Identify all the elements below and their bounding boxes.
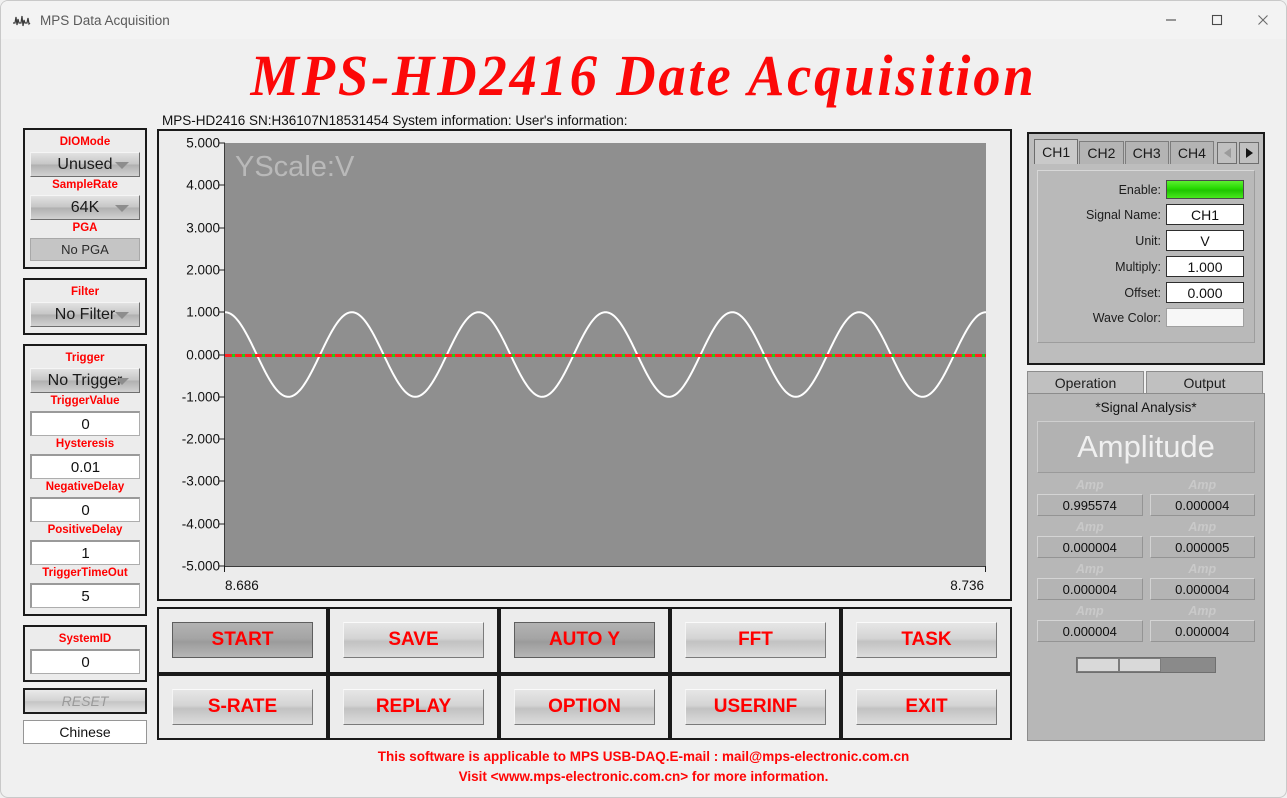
- chevron-down-icon: [115, 312, 129, 319]
- analysis-section-title: *Signal Analysis*: [1037, 400, 1255, 415]
- replay-button[interactable]: REPLAY: [343, 689, 483, 725]
- tab-operation[interactable]: Operation: [1027, 371, 1144, 393]
- diomode-select[interactable]: Unused: [30, 152, 140, 177]
- y-tick-label: 5.000: [186, 136, 220, 151]
- window-controls: [1148, 1, 1286, 39]
- multiply-input[interactable]: 1.000: [1166, 256, 1244, 277]
- scroll-thumb-2[interactable]: [1119, 658, 1161, 672]
- measurement-value: 0.000005: [1150, 536, 1256, 558]
- multiply-label: Multiply:: [1115, 260, 1161, 274]
- button-cell: EXIT: [841, 674, 1012, 741]
- scroll-thumb[interactable]: [1077, 658, 1119, 672]
- channel-settings-panel: CH1 CH2 CH3 CH4 Enable: Signal Name: CH1…: [1027, 132, 1265, 365]
- offset-label: Offset:: [1124, 286, 1161, 300]
- unit-label: Unit:: [1135, 234, 1161, 248]
- auto-y-button[interactable]: AUTO Y: [514, 622, 654, 658]
- window-title: MPS Data Acquisition: [40, 13, 170, 28]
- page-title: MPS-HD2416 Date Acquisition: [40, 45, 1248, 107]
- userinf-button[interactable]: USERINF: [685, 689, 825, 725]
- filter-group: Filter No Filter: [23, 278, 147, 335]
- footer-line-1: This software is applicable to MPS USB-D…: [1, 747, 1286, 767]
- triggertimeout-label: TriggerTimeOut: [30, 566, 140, 581]
- trigger-group: Trigger No Trigger TriggerValue 0 Hyster…: [23, 344, 147, 616]
- wave-color-row: Wave Color:: [1044, 308, 1244, 327]
- button-cell: USERINF: [670, 674, 841, 741]
- language-toggle-button[interactable]: Chinese: [23, 720, 147, 744]
- signal-name-label: Signal Name:: [1086, 208, 1161, 222]
- hysteresis-input[interactable]: 0.01: [30, 454, 140, 479]
- waveform-icon: [13, 12, 31, 28]
- pga-value: No PGA: [30, 238, 140, 261]
- analysis-panel: Operation Output *Signal Analysis* Ampli…: [1027, 371, 1265, 741]
- measurement-grid: AmpAmp0.9955740.000004AmpAmp0.0000040.00…: [1037, 477, 1255, 645]
- zero-reference-line: [225, 354, 986, 357]
- diomode-value: Unused: [57, 156, 112, 174]
- filter-value: No Filter: [55, 306, 115, 324]
- tab-ch3[interactable]: CH3: [1125, 141, 1169, 164]
- y-tick-label: -4.000: [182, 516, 220, 531]
- measurement-value: 0.000004: [1150, 620, 1256, 642]
- wave-color-label: Wave Color:: [1093, 311, 1161, 325]
- analysis-scrollbar[interactable]: [1037, 657, 1255, 673]
- chevron-down-icon: [115, 378, 129, 385]
- y-tick-label: 1.000: [186, 305, 220, 320]
- x-tick-start: [224, 566, 225, 572]
- measurement-label: Amp: [1150, 603, 1256, 620]
- offset-row: Offset: 0.000: [1044, 282, 1244, 303]
- acquisition-group: DIOMode Unused SampleRate 64K PGA No PGA: [23, 128, 147, 269]
- filter-label: Filter: [30, 285, 140, 300]
- minimize-button[interactable]: [1148, 1, 1194, 39]
- app-window: MPS Data Acquisition MPS-HD2416 Date Acq…: [0, 0, 1287, 798]
- channel-tab-bar: CH1 CH2 CH3 CH4: [1034, 139, 1259, 164]
- button-cell: REPLAY: [328, 674, 499, 741]
- waveform-chart[interactable]: YScale:V 5.0004.0003.0002.0001.0000.000-…: [157, 129, 1012, 601]
- measurement-label: Amp: [1037, 603, 1143, 620]
- fft-button[interactable]: FFT: [685, 622, 825, 658]
- button-cell: SAVE: [328, 607, 499, 674]
- y-tick-label: 4.000: [186, 178, 220, 193]
- save-button[interactable]: SAVE: [343, 622, 483, 658]
- y-tick-label: -2.000: [182, 432, 220, 447]
- diomode-label: DIOMode: [30, 135, 140, 150]
- measurement-value: 0.000004: [1037, 578, 1143, 600]
- analysis-mode-display[interactable]: Amplitude: [1037, 421, 1255, 473]
- y-tick-label: -3.000: [182, 474, 220, 489]
- offset-input[interactable]: 0.000: [1166, 282, 1244, 303]
- reset-button[interactable]: RESET: [23, 688, 147, 714]
- filter-select[interactable]: No Filter: [30, 302, 140, 327]
- y-tick-label: 0.000: [186, 347, 220, 362]
- measurement-label: Amp: [1037, 561, 1143, 578]
- measurement-label: Amp: [1150, 561, 1256, 578]
- enable-label: Enable:: [1119, 183, 1161, 197]
- settings-sidebar: DIOMode Unused SampleRate 64K PGA No PGA…: [23, 128, 147, 744]
- button-cell: TASK: [841, 607, 1012, 674]
- plot-area[interactable]: YScale:V 5.0004.0003.0002.0001.0000.000-…: [224, 143, 986, 567]
- measurement-value: 0.000004: [1150, 494, 1256, 516]
- title-bar: MPS Data Acquisition: [1, 1, 1286, 39]
- unit-input[interactable]: V: [1166, 230, 1244, 251]
- negativedelay-label: NegativeDelay: [30, 480, 140, 495]
- chevron-down-icon: [115, 162, 129, 169]
- samplerate-select[interactable]: 64K: [30, 195, 140, 220]
- systemid-input[interactable]: 0: [30, 649, 140, 674]
- y-tick-label: -5.000: [182, 559, 220, 574]
- tab-output[interactable]: Output: [1146, 371, 1263, 393]
- analysis-body: *Signal Analysis* Amplitude AmpAmp0.9955…: [1027, 393, 1265, 741]
- y-tick-label: 2.000: [186, 262, 220, 277]
- systemid-label: SystemID: [30, 632, 140, 647]
- button-cell: S-RATE: [157, 674, 328, 741]
- trigger-value: No Trigger: [48, 372, 123, 390]
- trigger-select[interactable]: No Trigger: [30, 368, 140, 393]
- enable-toggle[interactable]: [1166, 180, 1244, 199]
- measurement-value: 0.995574: [1037, 494, 1143, 516]
- signal-name-input[interactable]: CH1: [1166, 204, 1244, 225]
- option-button[interactable]: OPTION: [514, 689, 654, 725]
- footer: This software is applicable to MPS USB-D…: [1, 747, 1286, 787]
- measurement-label: Amp: [1150, 477, 1256, 494]
- triggervalue-label: TriggerValue: [30, 394, 140, 409]
- y-tick-label: 3.000: [186, 220, 220, 235]
- start-button[interactable]: START: [172, 622, 312, 658]
- measurement-value: 0.000004: [1150, 578, 1256, 600]
- pga-label: PGA: [30, 221, 140, 236]
- task-button[interactable]: TASK: [856, 622, 996, 658]
- multiply-row: Multiply: 1.000: [1044, 256, 1244, 277]
- triggervalue-input[interactable]: 0: [30, 411, 140, 436]
- wave-color-swatch[interactable]: [1166, 308, 1244, 327]
- chevron-right-icon: [1246, 148, 1253, 158]
- trigger-label: Trigger: [30, 351, 140, 366]
- signal-name-row: Signal Name: CH1: [1044, 204, 1244, 225]
- x-tick-end: [985, 566, 986, 572]
- samplerate-label: SampleRate: [30, 178, 140, 193]
- samplerate-value: 64K: [71, 199, 99, 217]
- prev-channel-button[interactable]: [1217, 142, 1237, 164]
- positivedelay-input[interactable]: 1: [30, 540, 140, 565]
- enable-row: Enable:: [1044, 180, 1244, 199]
- button-cell: AUTO Y: [499, 607, 670, 674]
- unit-row: Unit: V: [1044, 230, 1244, 251]
- measurement-value: 0.000004: [1037, 620, 1143, 642]
- s-rate-button[interactable]: S-RATE: [172, 689, 312, 725]
- button-cell: OPTION: [499, 674, 670, 741]
- close-button[interactable]: [1240, 1, 1286, 39]
- measurement-label: Amp: [1037, 477, 1143, 494]
- next-channel-button[interactable]: [1239, 142, 1259, 164]
- channel-fields: Enable: Signal Name: CH1 Unit: V Multipl…: [1037, 170, 1255, 343]
- button-cell: START: [157, 607, 328, 674]
- x-axis-start-label: 8.686: [225, 578, 259, 593]
- triggertimeout-input[interactable]: 5: [30, 583, 140, 608]
- negativedelay-input[interactable]: 0: [30, 497, 140, 522]
- chevron-left-icon: [1224, 148, 1231, 158]
- action-button-grid: START SAVE AUTO Y FFT TASK S-RATE REPLAY…: [157, 607, 1012, 740]
- tab-ch1[interactable]: CH1: [1034, 139, 1078, 164]
- analysis-tab-bar: Operation Output: [1027, 371, 1265, 393]
- button-cell: FFT: [670, 607, 841, 674]
- system-info-text: MPS-HD2416 SN:H36107N18531454 System inf…: [162, 113, 628, 128]
- footer-line-2: Visit <www.mps-electronic.com.cn> for mo…: [1, 767, 1286, 787]
- tab-ch2[interactable]: CH2: [1079, 141, 1123, 164]
- tab-ch4[interactable]: CH4: [1170, 141, 1214, 164]
- maximize-button[interactable]: [1194, 1, 1240, 39]
- measurement-value: 0.000004: [1037, 536, 1143, 558]
- hysteresis-label: Hysteresis: [30, 437, 140, 452]
- chevron-down-icon: [115, 205, 129, 212]
- measurement-label: Amp: [1037, 519, 1143, 536]
- x-axis-end-label: 8.736: [950, 578, 984, 593]
- systemid-group: SystemID 0: [23, 625, 147, 682]
- exit-button[interactable]: EXIT: [856, 689, 996, 725]
- positivedelay-label: PositiveDelay: [30, 523, 140, 538]
- measurement-label: Amp: [1150, 519, 1256, 536]
- y-tick-label: -1.000: [182, 389, 220, 404]
- scroll-track[interactable]: [1076, 657, 1216, 673]
